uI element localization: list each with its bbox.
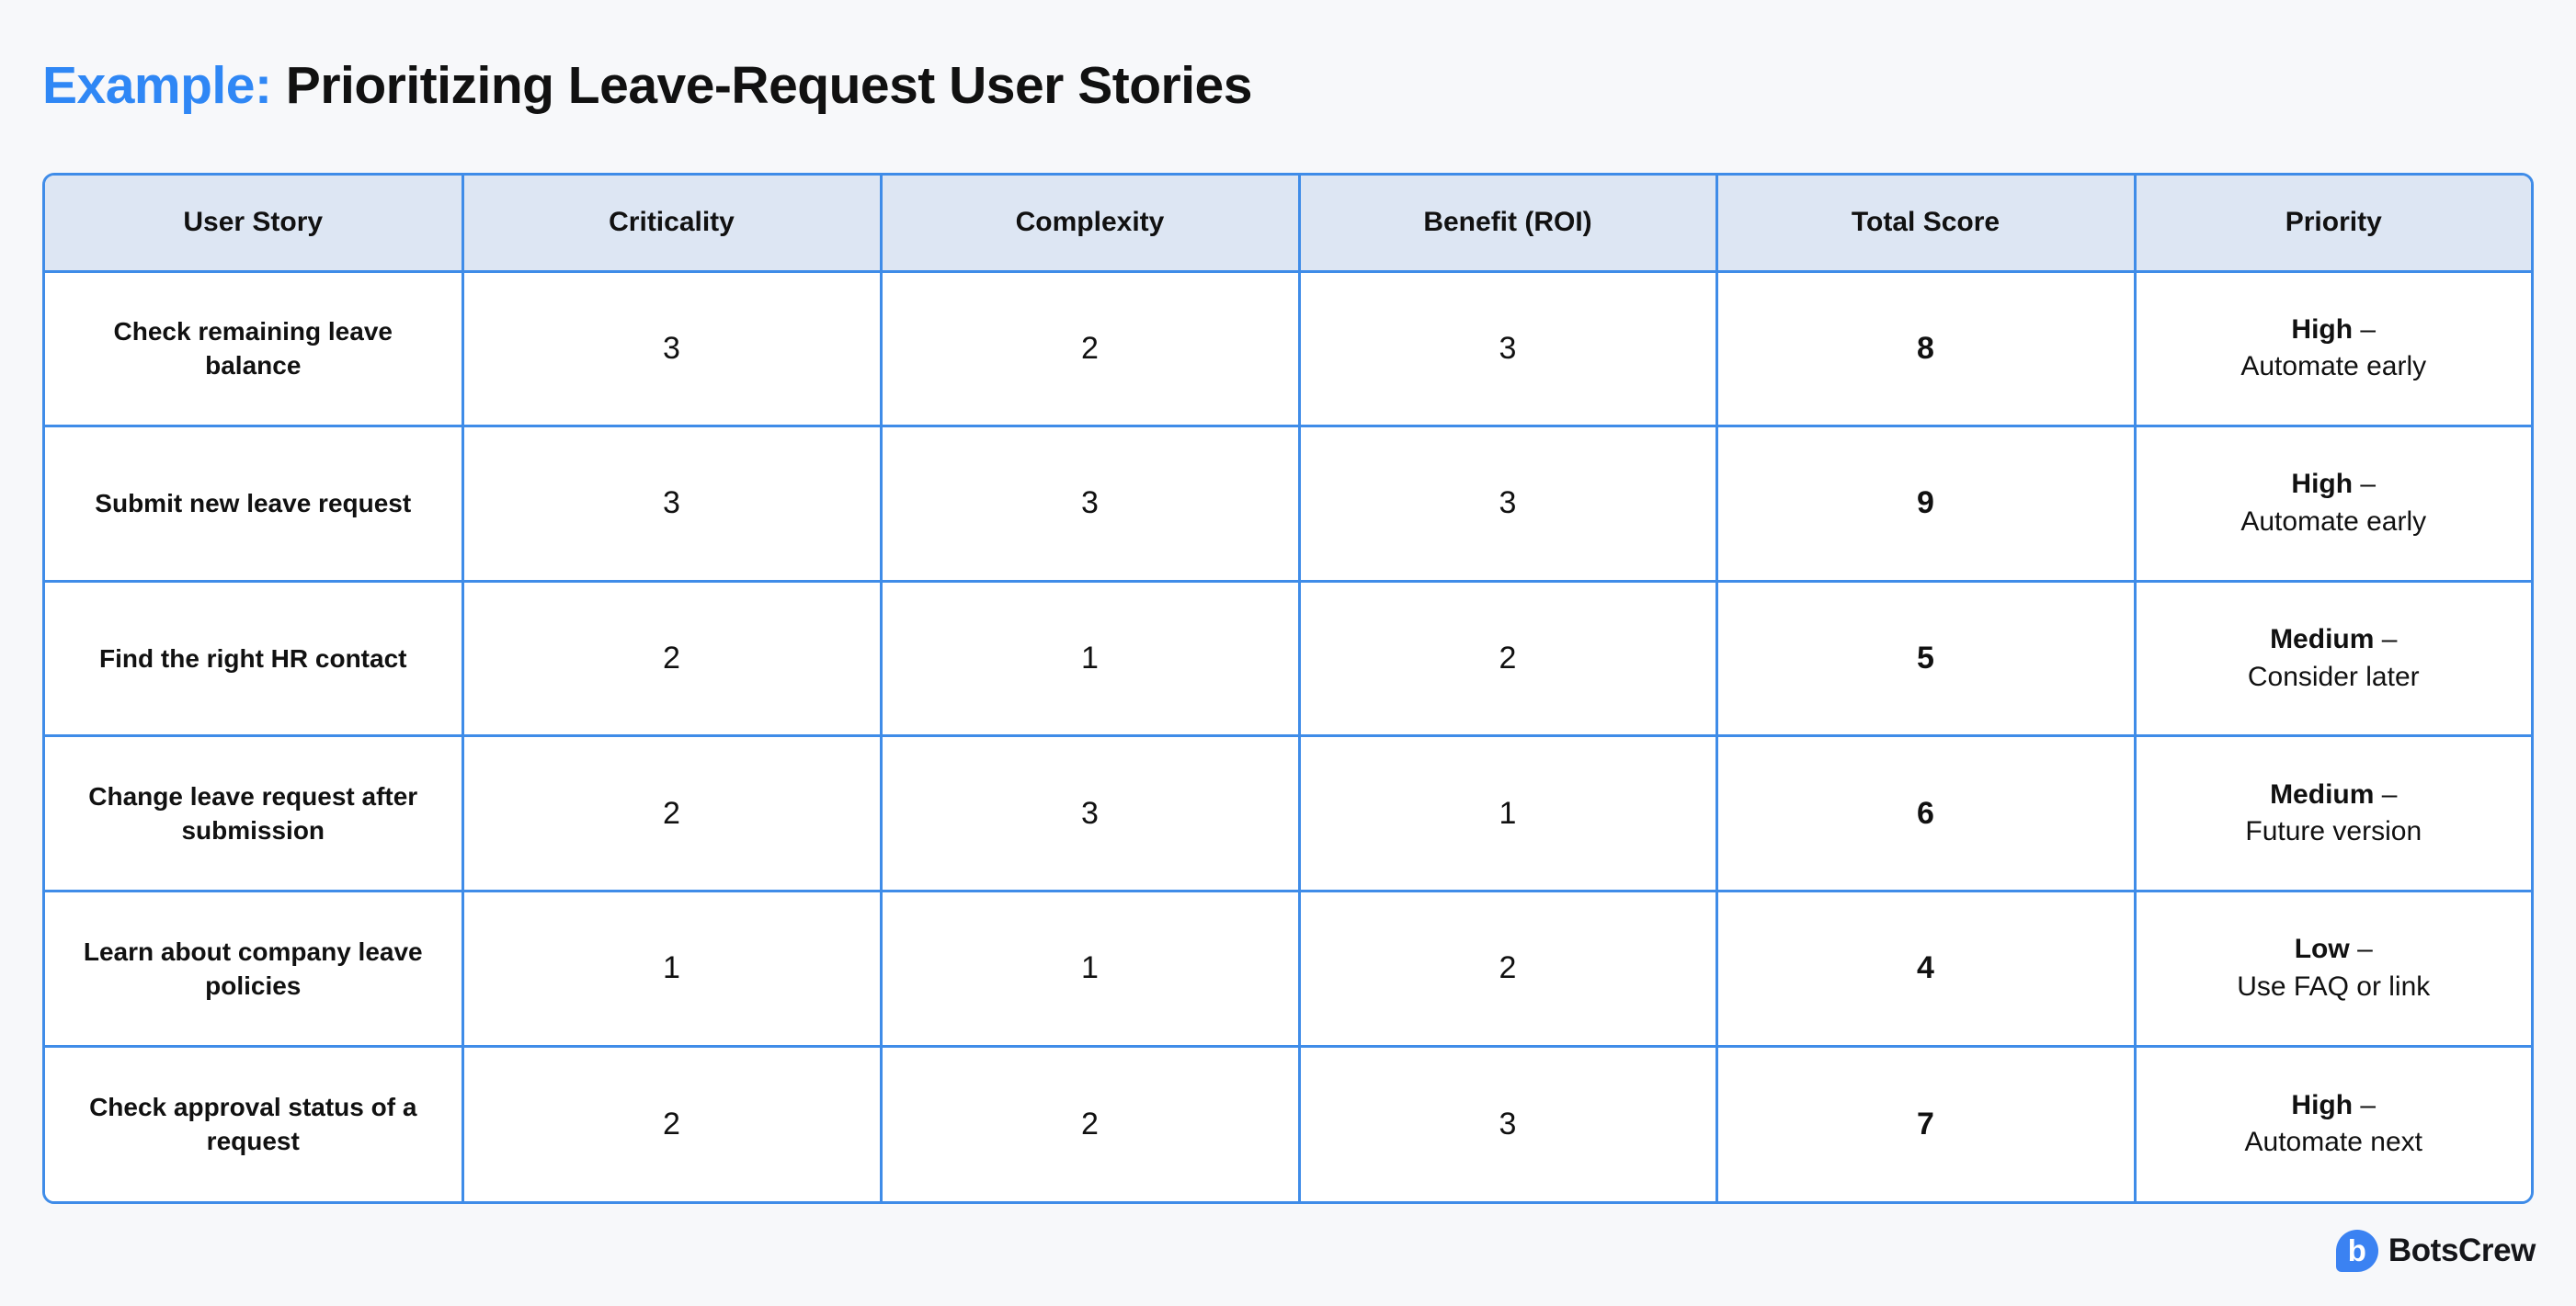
cell-benefit: 1 bbox=[1299, 736, 1716, 891]
priority-dash: – bbox=[2353, 1090, 2376, 1120]
priority-level: Low bbox=[2295, 934, 2350, 964]
table-row: Check approval status of a request 2 2 3… bbox=[45, 1046, 2531, 1201]
cell-benefit: 3 bbox=[1299, 271, 1716, 426]
cell-criticality: 3 bbox=[462, 271, 881, 426]
prioritization-table: User Story Criticality Complexity Benefi… bbox=[45, 176, 2531, 1201]
cell-user-story: Submit new leave request bbox=[45, 426, 462, 582]
priority-note: Use FAQ or link bbox=[2153, 969, 2515, 1006]
priority-note: Future version bbox=[2153, 813, 2515, 851]
cell-complexity: 3 bbox=[881, 736, 1299, 891]
column-header-criticality: Criticality bbox=[462, 176, 881, 271]
cell-priority: Low – Use FAQ or link bbox=[2135, 891, 2531, 1047]
table-header: User Story Criticality Complexity Benefi… bbox=[45, 176, 2531, 271]
cell-complexity: 2 bbox=[881, 271, 1299, 426]
page-title-main: Prioritizing Leave-Request User Stories bbox=[286, 56, 1252, 115]
priority-note: Automate early bbox=[2153, 504, 2515, 541]
table-row: Check remaining leave balance 3 2 3 8 Hi… bbox=[45, 271, 2531, 426]
cell-total-score: 5 bbox=[1716, 581, 2135, 736]
cell-criticality: 2 bbox=[462, 581, 881, 736]
priority-level: Medium bbox=[2270, 624, 2374, 654]
cell-priority: High – Automate early bbox=[2135, 271, 2531, 426]
cell-benefit: 3 bbox=[1299, 426, 1716, 582]
slide-canvas: Example: Prioritizing Leave-Request User… bbox=[0, 0, 2576, 1306]
prioritization-table-card: User Story Criticality Complexity Benefi… bbox=[42, 173, 2534, 1204]
table-row: Submit new leave request 3 3 3 9 High – … bbox=[45, 426, 2531, 582]
column-header-complexity: Complexity bbox=[881, 176, 1299, 271]
priority-note: Consider later bbox=[2153, 659, 2515, 697]
cell-priority: Medium – Future version bbox=[2135, 736, 2531, 891]
column-header-user-story: User Story bbox=[45, 176, 462, 271]
logo-wordmark: BotsCrew bbox=[2388, 1232, 2536, 1269]
priority-dash: – bbox=[2353, 314, 2376, 345]
logo-mark-letter: b bbox=[2348, 1235, 2366, 1266]
cell-total-score: 6 bbox=[1716, 736, 2135, 891]
cell-user-story: Learn about company leave policies bbox=[45, 891, 462, 1047]
cell-criticality: 1 bbox=[462, 891, 881, 1047]
cell-criticality: 2 bbox=[462, 736, 881, 891]
priority-level: High bbox=[2291, 469, 2353, 499]
cell-user-story: Change leave request after submission bbox=[45, 736, 462, 891]
column-header-total-score: Total Score bbox=[1716, 176, 2135, 271]
cell-complexity: 3 bbox=[881, 426, 1299, 582]
botscrew-logo: b BotsCrew bbox=[2336, 1230, 2536, 1272]
table-body: Check remaining leave balance 3 2 3 8 Hi… bbox=[45, 271, 2531, 1201]
cell-benefit: 2 bbox=[1299, 891, 1716, 1047]
cell-complexity: 2 bbox=[881, 1046, 1299, 1201]
cell-user-story: Find the right HR contact bbox=[45, 581, 462, 736]
table-row: Change leave request after submission 2 … bbox=[45, 736, 2531, 891]
cell-benefit: 2 bbox=[1299, 581, 1716, 736]
table-row: Find the right HR contact 2 1 2 5 Medium… bbox=[45, 581, 2531, 736]
column-header-benefit-roi: Benefit (ROI) bbox=[1299, 176, 1716, 271]
cell-total-score: 7 bbox=[1716, 1046, 2135, 1201]
page-title: Example: Prioritizing Leave-Request User… bbox=[42, 57, 1252, 115]
table-header-row: User Story Criticality Complexity Benefi… bbox=[45, 176, 2531, 271]
cell-priority: High – Automate early bbox=[2135, 426, 2531, 582]
column-header-priority: Priority bbox=[2135, 176, 2531, 271]
table-row: Learn about company leave policies 1 1 2… bbox=[45, 891, 2531, 1047]
priority-dash: – bbox=[2353, 469, 2376, 499]
priority-level: High bbox=[2291, 1090, 2353, 1120]
priority-dash: – bbox=[2374, 624, 2397, 654]
cell-criticality: 3 bbox=[462, 426, 881, 582]
priority-note: Automate next bbox=[2153, 1124, 2515, 1162]
cell-priority: Medium – Consider later bbox=[2135, 581, 2531, 736]
cell-priority: High – Automate next bbox=[2135, 1046, 2531, 1201]
cell-user-story: Check approval status of a request bbox=[45, 1046, 462, 1201]
priority-dash: – bbox=[2350, 934, 2373, 964]
page-title-accent: Example: bbox=[42, 56, 271, 115]
chat-bubble-icon: b bbox=[2336, 1230, 2378, 1272]
cell-user-story: Check remaining leave balance bbox=[45, 271, 462, 426]
cell-total-score: 8 bbox=[1716, 271, 2135, 426]
cell-total-score: 4 bbox=[1716, 891, 2135, 1047]
cell-total-score: 9 bbox=[1716, 426, 2135, 582]
cell-benefit: 3 bbox=[1299, 1046, 1716, 1201]
priority-level: High bbox=[2291, 314, 2353, 345]
priority-note: Automate early bbox=[2153, 348, 2515, 386]
priority-dash: – bbox=[2374, 779, 2397, 810]
cell-complexity: 1 bbox=[881, 581, 1299, 736]
cell-complexity: 1 bbox=[881, 891, 1299, 1047]
priority-level: Medium bbox=[2270, 779, 2374, 810]
cell-criticality: 2 bbox=[462, 1046, 881, 1201]
